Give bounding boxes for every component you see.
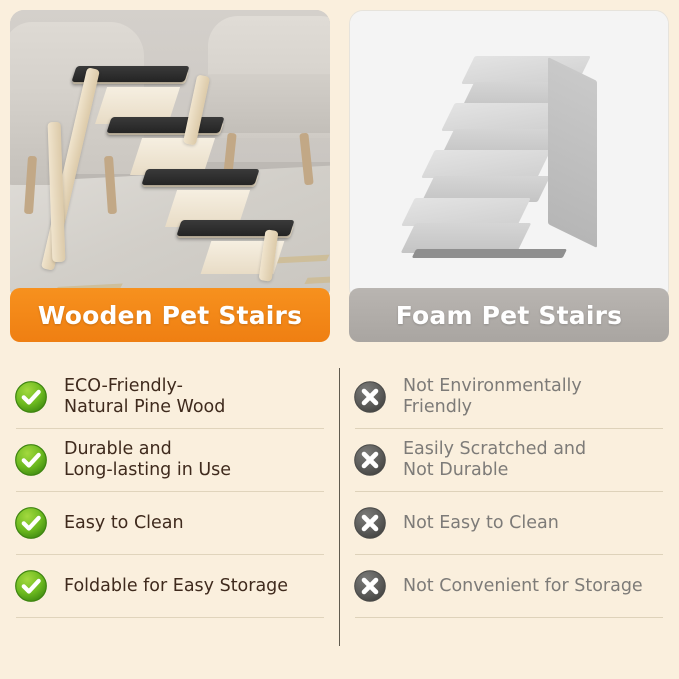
feature-row: Easily Scratched and Not Durable [353,429,665,491]
feature-label: Not Easy to Clean [399,513,559,534]
wooden-stairs-label: Wooden Pet Stairs [10,288,330,342]
feature-row: Easy to Clean [14,492,326,554]
stair-carpet [107,117,225,133]
right-product-column: Foam Pet Stairs Not Environmentally Frie… [339,0,679,679]
feature-label: Foldable for Easy Storage [60,576,288,597]
stair-carpet [142,169,260,185]
feature-row: Durable and Long-lasting in Use [14,429,326,491]
feature-row: Foldable for Easy Storage [14,555,326,617]
left-product-column: Wooden Pet Stairs ECO-Friendly- Natural … [0,0,340,679]
foam-pet-stairs [401,52,624,267]
feature-separator [16,617,324,618]
x-circle-icon [353,506,399,540]
feature-label: Easily Scratched and Not Durable [399,439,586,480]
check-circle-icon [14,443,60,477]
feature-label: Not Convenient for Storage [399,576,643,597]
check-circle-icon [14,569,60,603]
feature-row: Not Environmentally Friendly [353,366,665,428]
foam-stairs-scene [350,11,668,301]
foam-stairs-label: Foam Pet Stairs [349,288,669,342]
foam-stairs-feature-list: Not Environmentally Friendly Easily Scra… [353,366,665,618]
wooden-pet-stairs [42,57,311,291]
check-circle-icon [14,380,60,414]
comparison-infographic: Wooden Pet Stairs ECO-Friendly- Natural … [0,0,679,679]
feature-row: ECO-Friendly- Natural Pine Wood [14,366,326,428]
feature-label: Not Environmentally Friendly [399,376,582,417]
x-circle-icon [353,443,399,477]
feature-separator [355,617,663,618]
check-circle-icon [14,506,60,540]
foam-base-shadow [412,249,568,258]
foam-step-top [401,198,530,226]
x-circle-icon [353,569,399,603]
wooden-stairs-feature-list: ECO-Friendly- Natural Pine Wood Durable … [14,366,326,618]
feature-row: Not Easy to Clean [353,492,665,554]
x-circle-icon [353,380,399,414]
wooden-stairs-photo [10,10,330,302]
foam-step-top [421,150,550,178]
living-room-scene [10,10,330,302]
feature-label: ECO-Friendly- Natural Pine Wood [60,376,225,417]
foam-side-panel [548,57,597,248]
feature-label: Durable and Long-lasting in Use [60,439,231,480]
column-divider [339,368,340,646]
feature-label: Easy to Clean [60,513,184,534]
stair-frame-rail [183,75,210,146]
foam-stairs-photo [349,10,669,302]
feature-row: Not Convenient for Storage [353,555,665,617]
